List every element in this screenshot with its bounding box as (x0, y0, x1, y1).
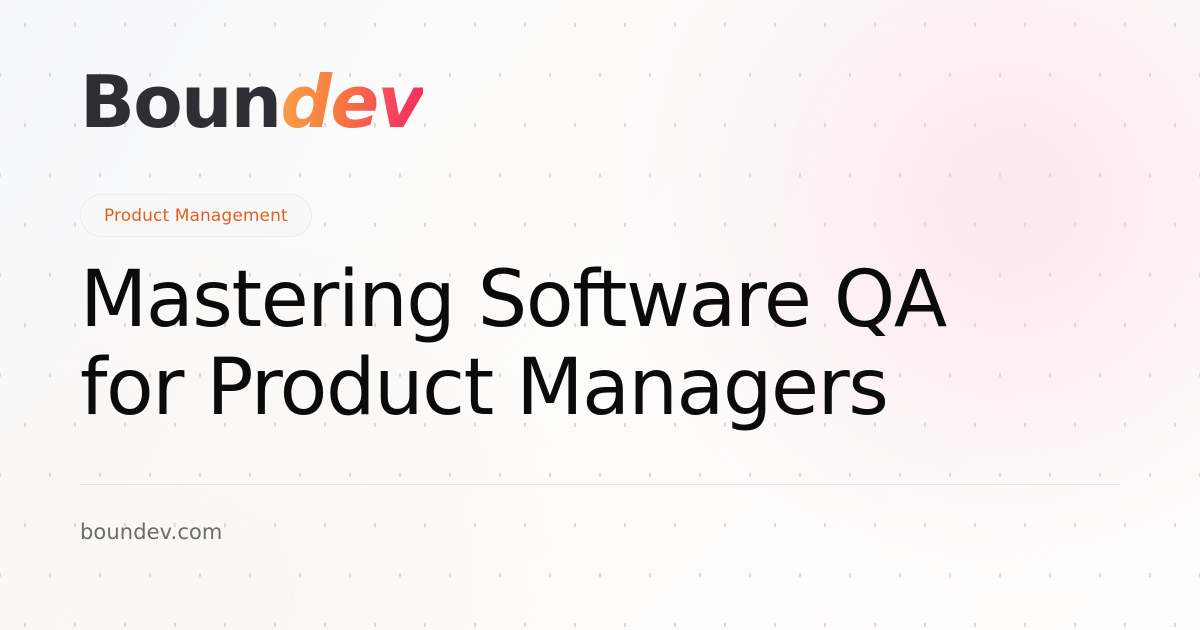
page-title-line-2: for Product Managers (80, 344, 1090, 432)
page-title: Mastering Software QA for Product Manage… (80, 256, 1090, 432)
social-share-card: Boundev Product Management Mastering Sof… (0, 0, 1200, 630)
brand-logo[interactable]: Boundev (80, 66, 423, 138)
page-title-line-1: Mastering Software QA (80, 256, 1090, 344)
brand-logo-primary: Boun (80, 60, 280, 144)
site-url[interactable]: boundev.com (80, 520, 222, 544)
footer-divider (80, 484, 1120, 485)
category-badge-label: Product Management (104, 206, 288, 226)
brand-logo-accent: dev (280, 60, 423, 144)
card-content: Boundev Product Management Mastering Sof… (0, 0, 1200, 630)
category-badge[interactable]: Product Management (80, 194, 312, 237)
